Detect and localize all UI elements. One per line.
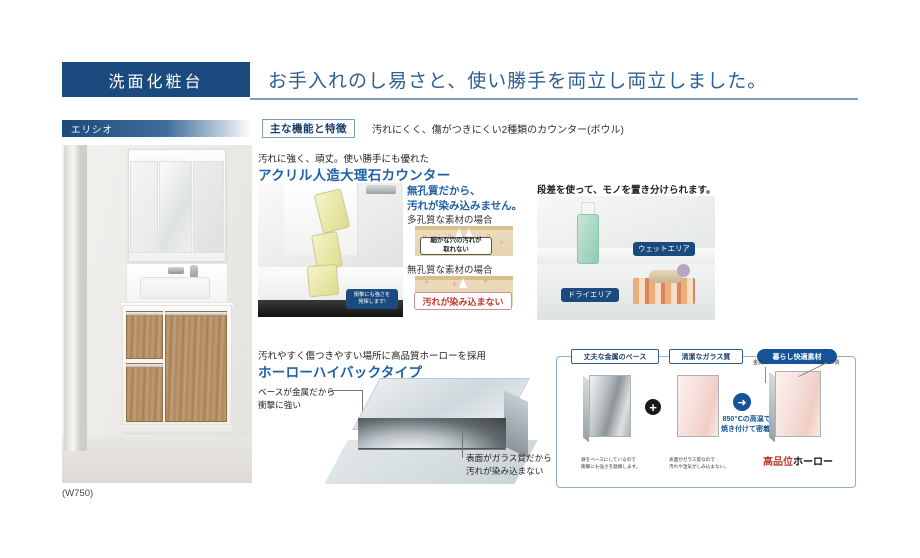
door-handle-right xyxy=(165,312,227,315)
cabinet-base xyxy=(122,425,232,435)
result-plate-edge xyxy=(769,371,775,442)
result-label-prefix: 高品位 xyxy=(763,457,793,468)
hollow-note-right: 表面がガラス質だから 汚れが染み込まない xyxy=(466,452,552,478)
acrylic-heading: アクリル人造大理石カウンター xyxy=(258,164,451,184)
metal-plate-face xyxy=(589,375,631,437)
nonporous-case-label: 無孔質な素材の場合 xyxy=(407,262,493,276)
product-photo-caption: (W750) xyxy=(62,488,93,499)
impact-badge: 衝撃にも強さを 発揮します! xyxy=(346,289,398,309)
pore xyxy=(500,241,503,244)
metal-plate-caption: 鉄をベースにしているので 衝撃にも強さを発揮します。 xyxy=(581,457,640,471)
hollow-lead: 汚れやすく傷つきやすい場所に高品質ホーローを採用 xyxy=(258,348,486,362)
catalog-page: 洗面化粧台 お手入れのし易さと、使い勝手を両立し両立しました。 エリシオ 主な機… xyxy=(0,0,920,558)
falling-bottle-3 xyxy=(307,264,340,297)
result-label-suffix: ホーロー xyxy=(793,457,833,468)
acrylic-lead: 汚れに強く、頑丈。使い勝手にも優れた xyxy=(258,151,429,165)
metal-plate-edge xyxy=(583,375,589,442)
porous-title: 無孔質だから、 汚れが染み込みません。 xyxy=(407,184,522,214)
plus-icon: + xyxy=(645,399,661,415)
highback-curved-bowl xyxy=(358,418,506,448)
plus-icon-glyph: + xyxy=(649,401,657,414)
impact-badge-line2: 発揮します! xyxy=(358,299,385,306)
drawer-handle-upper xyxy=(126,312,163,315)
heat-note-line2: 焼き付けて密着! xyxy=(721,425,772,435)
photo-floor xyxy=(62,437,252,483)
arrow-right-icon: ➜ xyxy=(733,393,751,411)
photo-door-jamb xyxy=(64,145,81,451)
result-label: 高品位ホーロー xyxy=(763,453,833,468)
glass-plate-caption-line1: 表面がガラス質なので xyxy=(669,457,729,464)
metal-plate-caption-line2: 衝撃にも強さを発揮します。 xyxy=(581,464,640,471)
category-badge-label: 洗面化粧台 xyxy=(108,68,203,92)
faucet-lever xyxy=(190,265,198,277)
anno-metal-leader xyxy=(765,367,766,383)
cabinet-door-right xyxy=(165,311,227,422)
drawer-handle-lower xyxy=(126,364,163,367)
brush-head xyxy=(677,264,690,277)
product-photo xyxy=(62,145,252,483)
dry-area-label: ドライエリア xyxy=(568,290,612,300)
chip-metal-base-label: 丈夫な金属のベース xyxy=(584,352,647,362)
hollow-leader-right xyxy=(462,430,463,458)
anno-metal-label: 金属 xyxy=(753,359,763,366)
result-plate-face xyxy=(775,371,821,437)
mirror-panel-center xyxy=(159,161,192,253)
dirt-speck-icon: + xyxy=(424,277,429,287)
porous-title-line1: 無孔質だから、 xyxy=(407,184,522,199)
counter-faucet xyxy=(366,185,396,194)
cabinet-drawer-upper-left xyxy=(126,311,163,359)
chip-result-material-label: 暮らし快適素材 xyxy=(773,352,822,362)
porous-case-label: 多孔質な素材の場合 xyxy=(407,212,493,226)
product-name-badge: エリシオ xyxy=(62,120,252,137)
mirror-panel-right xyxy=(193,161,224,253)
photo-door-edge xyxy=(81,145,87,451)
arrow-right-icon-glyph: ➜ xyxy=(737,396,746,409)
heat-note-line1: 850℃の高温で xyxy=(721,415,772,425)
wetdry-photo: ウェットエリア ドライエリア xyxy=(537,196,715,320)
spray-bottle xyxy=(577,214,599,264)
dirt-speck-icon: + xyxy=(483,276,488,286)
section-chip-label: 主な機能と特徴 xyxy=(270,121,347,136)
metal-plate-caption-line1: 鉄をベースにしているので xyxy=(581,457,640,464)
hollow-note-left: ベースが金属だから 衝撃に強い xyxy=(258,386,335,412)
heat-note: 850℃の高温で 焼き付けて密着! xyxy=(721,415,772,435)
header-divider xyxy=(250,98,858,100)
cabinet-drawer-lower-left xyxy=(126,363,163,422)
highback-side-face xyxy=(504,390,528,458)
product-name-label: エリシオ xyxy=(62,122,113,136)
nonporous-callout: 汚れが染み込まない xyxy=(414,292,512,310)
porous-callout-line1: 細かな穴の汚れが xyxy=(430,237,481,246)
hollow-note-right-line1: 表面がガラス質だから xyxy=(466,452,552,465)
dry-area-tag: ドライエリア xyxy=(561,288,619,302)
glass-plate-caption: 表面がガラス質なので 汚れや湿気がしみ込まない。 xyxy=(669,457,729,471)
result-plate xyxy=(775,371,821,437)
mirror-panel-left xyxy=(130,161,158,253)
glass-plate-face xyxy=(677,375,719,437)
chip-metal-base: 丈夫な金属のベース xyxy=(571,349,659,364)
dirt-speck-icon: + xyxy=(452,279,457,289)
faucet-spout xyxy=(168,267,184,274)
section-description: 汚れにくく、傷がつきにくい2種類のカウンター(ボウル) xyxy=(372,119,624,138)
page-title: お手入れのし易さと、使い勝手を両立し両立しました。 xyxy=(268,62,767,97)
nonporous-callout-label: 汚れが染み込まない xyxy=(422,295,503,308)
glass-plate-caption-line2: 汚れや湿気がしみ込まない。 xyxy=(669,464,729,471)
acrylic-counter-photo: 衝撃にも強さを 発揮します! xyxy=(258,183,403,317)
wet-area-tag: ウェットエリア xyxy=(633,242,695,256)
nonporous-notch xyxy=(459,278,467,288)
porous-material-surface xyxy=(415,226,513,230)
porous-callout: 細かな穴の汚れが 取れない xyxy=(420,237,492,255)
hollow-note-left-line1: ベースが金属だから xyxy=(258,386,335,399)
chip-glass-surface: 清潔なガラス質 xyxy=(669,349,743,364)
chip-glass-surface-label: 清潔なガラス質 xyxy=(682,352,731,362)
section-chip: 主な機能と特徴 xyxy=(262,119,355,138)
hollow-note-right-line2: 汚れが染み込まない xyxy=(466,465,552,478)
glass-plate xyxy=(677,375,719,437)
basin-bowl xyxy=(140,277,210,299)
wet-area-label: ウェットエリア xyxy=(638,244,690,254)
material-panel: 丈夫な金属のベース 清潔なガラス質 暮らし快適素材 鉄をベースにしているので 衝… xyxy=(556,356,856,488)
porous-callout-line2: 取れない xyxy=(443,246,469,255)
category-badge: 洗面化粧台 xyxy=(62,62,250,97)
hollow-note-left-line2: 衝撃に強い xyxy=(258,399,335,412)
wetdry-title: 段差を使って、モノを置き分けられます。 xyxy=(537,182,716,196)
impact-badge-line1: 衝撃にも強さを xyxy=(354,292,390,299)
metal-plate xyxy=(589,375,631,437)
